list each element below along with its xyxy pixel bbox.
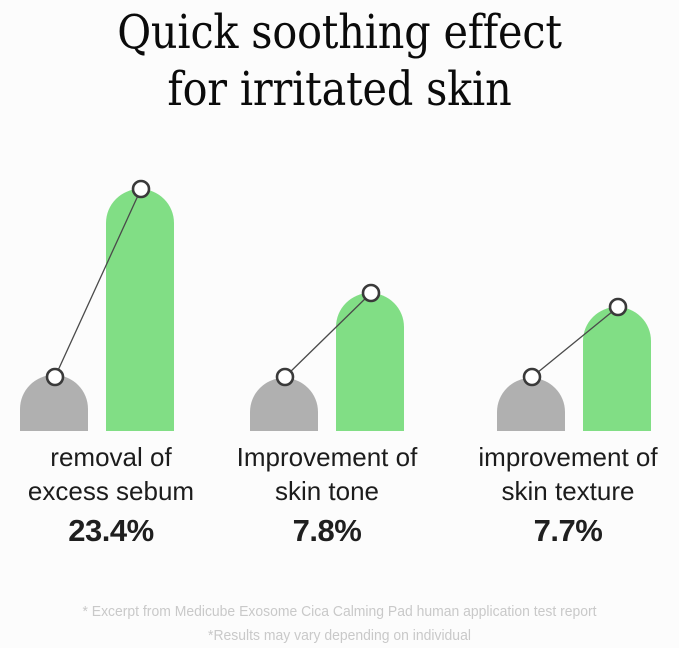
marker-before-2 (277, 369, 293, 385)
caption-line-2: excess sebum (0, 474, 224, 508)
footnote-line-2: *Results may vary depending on individua… (24, 624, 655, 648)
value-badge: 7.8% (214, 510, 440, 552)
group-label-removal-of-excess-sebum: removal of excess sebum 23.4% (0, 440, 224, 552)
marker-after-1 (133, 181, 149, 197)
title-line-2: for irritated skin (41, 61, 639, 118)
footnote-line-1: * Excerpt from Medicube Exosome Cica Cal… (24, 600, 655, 624)
caption-line-2: skin tone (214, 474, 440, 508)
value-badge: 7.7% (455, 510, 679, 552)
caption-line-1: removal of (0, 440, 224, 474)
bar-after-1 (106, 189, 174, 431)
infographic-root: Quick soothing effect for irritated skin (0, 0, 679, 645)
group-label-improvement-of-skin-texture: improvement of skin texture 7.7% (455, 440, 679, 552)
bar-chart (0, 160, 679, 445)
bar-after-2 (336, 293, 404, 431)
chart-labels-row: removal of excess sebum 23.4% Improvemen… (0, 440, 679, 555)
caption-line-2: skin texture (455, 474, 679, 508)
chart-svg (0, 160, 679, 445)
chart-group-improvement-of-skin-tone (250, 285, 404, 431)
marker-before-1 (47, 369, 63, 385)
chart-group-improvement-of-skin-texture (497, 299, 651, 431)
page-title: Quick soothing effect for irritated skin (0, 0, 679, 118)
caption-line-1: improvement of (455, 440, 679, 474)
group-label-improvement-of-skin-tone: Improvement of skin tone 7.8% (214, 440, 440, 552)
chart-group-removal-of-excess-sebum (20, 181, 174, 431)
bar-after-3 (583, 307, 651, 431)
marker-after-2 (363, 285, 379, 301)
marker-after-3 (610, 299, 626, 315)
caption-line-1: Improvement of (214, 440, 440, 474)
footnote: * Excerpt from Medicube Exosome Cica Cal… (0, 600, 679, 648)
value-badge: 23.4% (0, 510, 224, 552)
marker-before-3 (524, 369, 540, 385)
title-line-1: Quick soothing effect (41, 4, 639, 61)
